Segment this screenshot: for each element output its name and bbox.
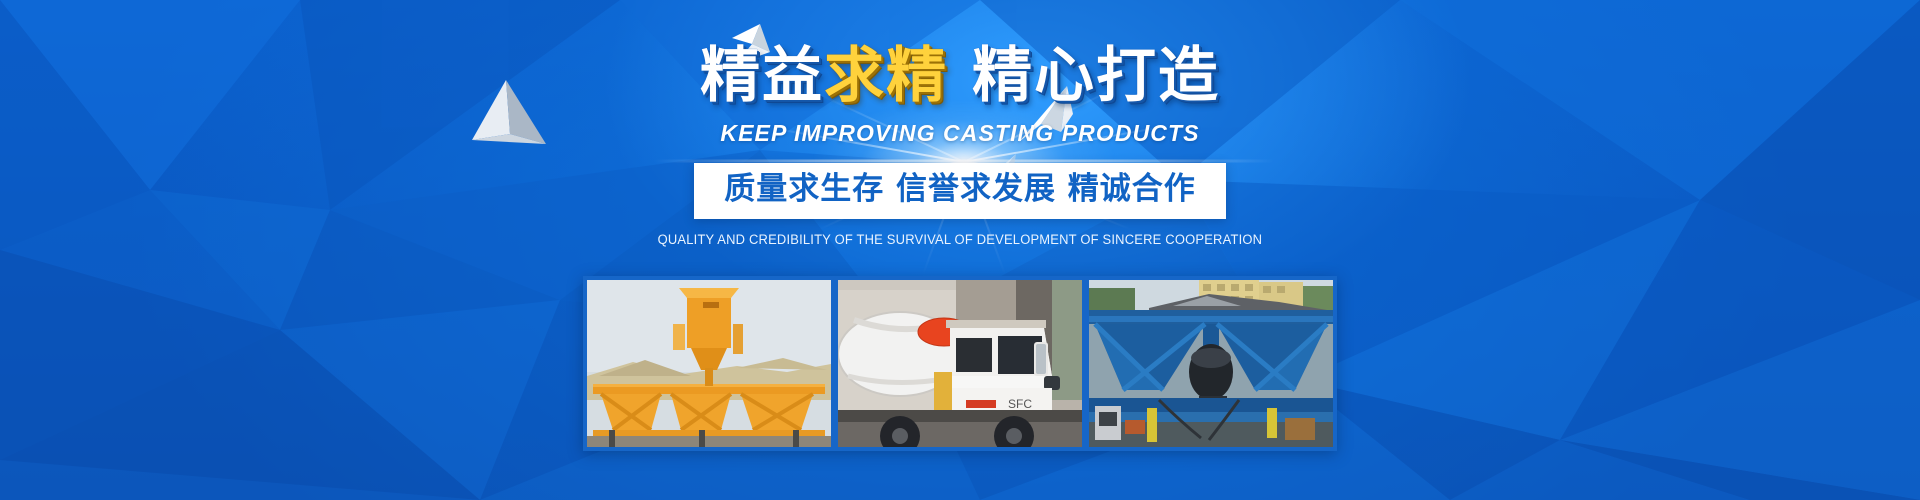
- headline-part3: 精心打造: [972, 41, 1220, 111]
- photo-orange-concrete-batching-plant[interactable]: [587, 280, 831, 447]
- photo-blue-aggregate-batching-hoppers[interactable]: [1089, 280, 1333, 447]
- svg-text:SFC: SFC: [1008, 397, 1032, 411]
- headline-part2: 求精: [824, 41, 948, 111]
- slogan-chinese: 质量求生存 信誉求发展 精诚合作: [724, 172, 1196, 208]
- subtitle-english: KEEP IMPROVING CASTING PRODUCTS: [720, 120, 1199, 147]
- promo-banner: 精益求精精心打造 KEEP IMPROVING CASTING PRODUCTS…: [0, 0, 1920, 500]
- slogan-english: QUALITY AND CREDIBILITY OF THE SURVIVAL …: [658, 232, 1263, 247]
- photo-strip: SFC: [583, 276, 1337, 451]
- headline: 精益求精精心打造: [700, 46, 1220, 106]
- photo-white-concrete-mixer-truck[interactable]: SFC: [838, 280, 1082, 447]
- headline-part1: 精益: [700, 41, 824, 111]
- slogan-box: 质量求生存 信誉求发展 精诚合作: [694, 163, 1226, 219]
- banner-content: 精益求精精心打造 KEEP IMPROVING CASTING PRODUCTS…: [0, 0, 1920, 247]
